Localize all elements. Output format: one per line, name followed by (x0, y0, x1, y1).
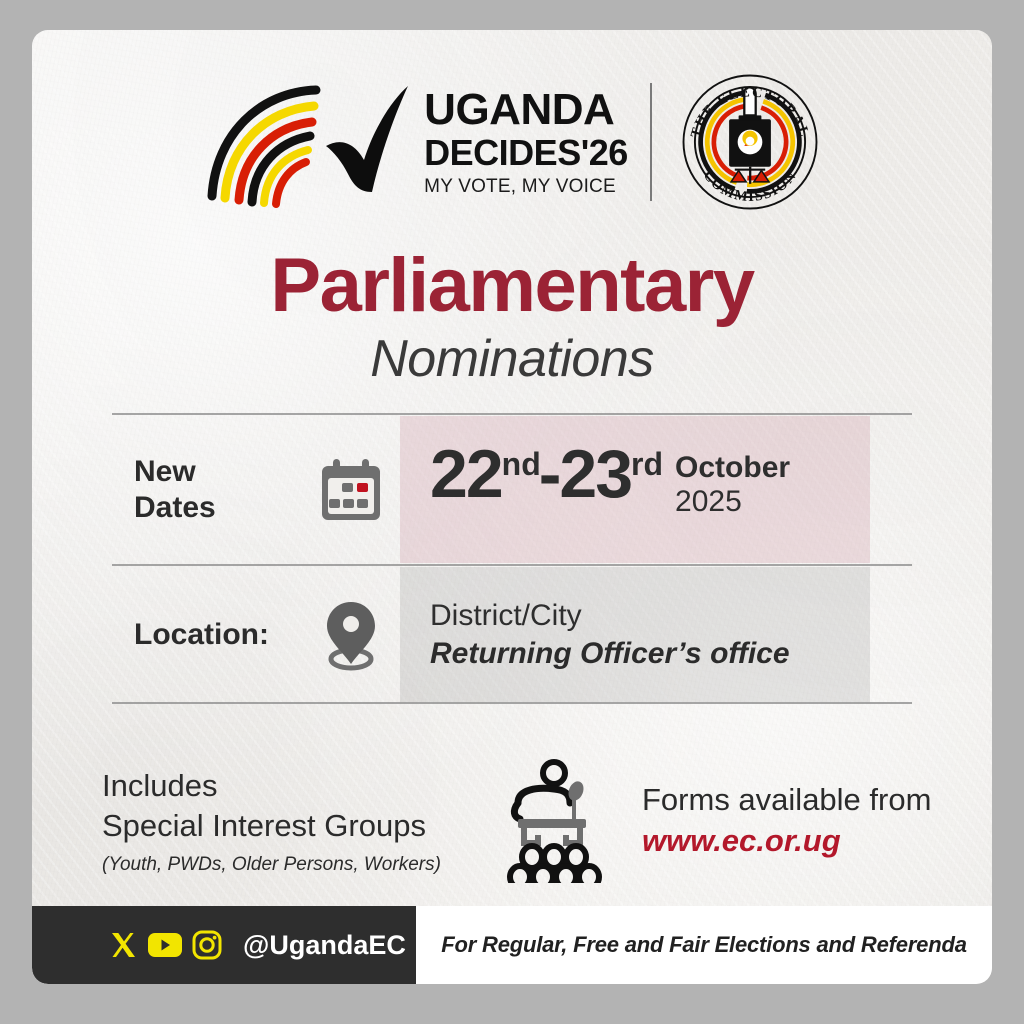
day-end: 23 (559, 440, 631, 508)
wordmark-decides: DECIDES'26 (424, 135, 628, 171)
day-start-ordinal: nd (502, 448, 541, 480)
month-year: October 2025 (675, 451, 790, 518)
dates-line: 22 nd - 23 rd October 2025 (430, 440, 790, 538)
wordmark: UGANDA DECIDES'26 MY VOTE, MY VOICE (424, 88, 628, 196)
poster-card: UGANDA DECIDES'26 MY VOTE, MY VOICE (32, 30, 992, 984)
header-divider (650, 83, 652, 201)
includes-line1: Includes (102, 766, 462, 806)
includes-line2: Special Interest Groups (102, 806, 462, 846)
electoral-commission-seal-icon: THE ELECTORAL COMMISSION (674, 66, 826, 218)
header-logos: UGANDA DECIDES'26 MY VOTE, MY VOICE (32, 62, 992, 222)
new-dates-label-line1: New (134, 454, 302, 489)
footer-tagline: For Regular, Free and Fair Elections and… (441, 932, 966, 958)
divider-middle (112, 564, 912, 566)
location-value-line2: Returning Officer’s office (430, 635, 790, 673)
youtube-icon[interactable] (147, 931, 183, 959)
new-dates-label: New Dates (112, 454, 302, 525)
social-icons (108, 930, 222, 960)
instagram-icon[interactable] (192, 930, 222, 960)
map-pin-icon-wrap (302, 596, 400, 674)
wordmark-tagline: MY VOTE, MY VOICE (424, 177, 628, 196)
location-value-line1: District/City (430, 597, 790, 635)
footer-bar: @UgandaEC For Regular, Free and Fair Ele… (32, 906, 992, 984)
bottom-info: Includes Special Interest Groups (Youth,… (102, 746, 952, 896)
forms-block: Forms available from www.ec.or.ug (642, 781, 952, 861)
divider-bottom (112, 702, 912, 704)
day-end-ordinal: rd (631, 448, 663, 480)
speaker-podium-audience-icon (496, 759, 608, 883)
calendar-icon-wrap (302, 454, 400, 526)
x-twitter-icon[interactable] (108, 930, 138, 960)
dates-value: 22 nd - 23 rd October 2025 (400, 440, 790, 538)
location-value: District/City Returning Officer’s office (400, 597, 790, 672)
footer-social-bar: @UgandaEC (32, 906, 416, 984)
checkmark-icon (320, 82, 412, 202)
page-title: Parliamentary (32, 248, 992, 324)
day-start: 22 (430, 440, 502, 508)
podium-icon-wrap (493, 759, 611, 883)
forms-available-text: Forms available from (642, 781, 952, 819)
new-dates-row: New Dates 22 nd (112, 416, 912, 563)
forms-url[interactable]: www.ec.or.ug (642, 821, 952, 861)
title-block: Parliamentary Nominations (32, 248, 992, 390)
location-row: Location: District/City Returning Office… (112, 567, 912, 702)
special-interest-groups-block: Includes Special Interest Groups (Youth,… (102, 766, 462, 875)
date-range-separator: - (539, 440, 562, 508)
includes-note: (Youth, PWDs, Older Persons, Workers) (102, 854, 462, 876)
footer-tagline-bar: For Regular, Free and Fair Elections and… (416, 906, 992, 984)
new-dates-label-line2: Dates (134, 490, 302, 525)
social-handle[interactable]: @UgandaEC (243, 930, 406, 961)
month-label: October (675, 451, 790, 485)
map-pin-icon (315, 596, 387, 674)
wordmark-uganda: UGANDA (424, 88, 628, 132)
poster-canvas: UGANDA DECIDES'26 MY VOTE, MY VOICE (0, 0, 1024, 1024)
year-label: 2025 (675, 485, 790, 519)
uganda-decides-logo: UGANDA DECIDES'26 MY VOTE, MY VOICE (198, 72, 628, 212)
swoosh-arcs-icon (198, 72, 328, 212)
location-label: Location: (112, 617, 302, 652)
page-subtitle: Nominations (32, 330, 992, 390)
divider-top (112, 413, 912, 415)
calendar-icon (315, 454, 387, 526)
